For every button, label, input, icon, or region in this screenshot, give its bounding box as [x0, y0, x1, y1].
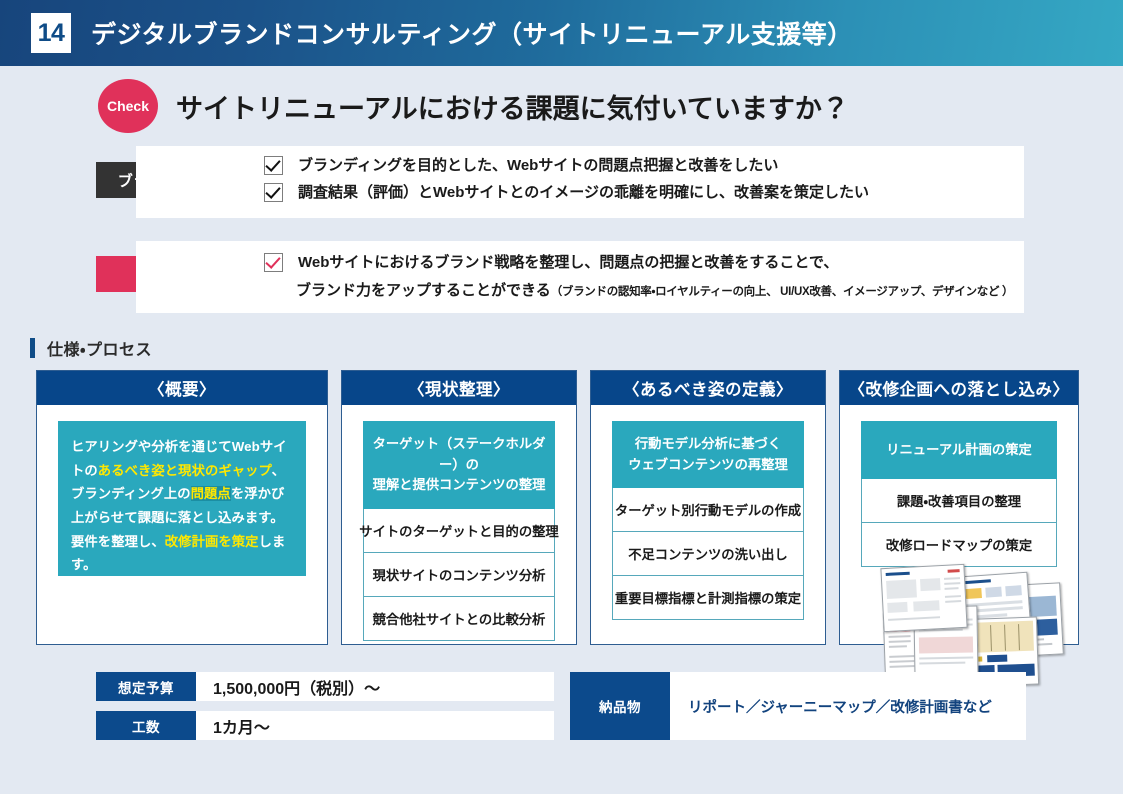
effect-text-note: （ブランドの認知率・ロイヤルティーの向上、 UI/UX改善、イメージアップ、デザ… — [551, 286, 1014, 298]
overview-seg-highlight: 改修計画を策定 — [165, 534, 259, 549]
section-label-process: 仕様・プロセス — [30, 336, 152, 360]
check-headline-row: Check サイトリニューアルにおける課題に気付いていますか？ — [0, 78, 1123, 134]
spec-value: 1,500,000円（税別）〜 — [196, 672, 554, 701]
process-column-ideal-definition: 〈あるべき姿の定義〉 行動モデル分析に基づく ウェブコンテンツの再整理 ターゲッ… — [590, 370, 826, 645]
step-cell: 課題・改善項目の整理 — [861, 479, 1057, 523]
step-header-cell: 行動モデル分析に基づく ウェブコンテンツの再整理 — [612, 421, 804, 488]
section-label-text: 仕様・プロセス — [47, 336, 152, 360]
brand-issue-text: 調査結果（評価）とWebサイトとのイメージの乖離を明確にし、改善案を策定したい — [298, 182, 869, 204]
step-header-line: 理解と提供コンテンツの整理 — [373, 475, 546, 496]
overview-paragraph: ヒアリングや分析を通じてWebサイトのあるべき姿と現状のギャップ、ブランディング… — [58, 421, 306, 576]
column-title: 〈概要〉 — [37, 371, 327, 405]
spec-value: 1カ月〜 — [196, 711, 554, 740]
process-column-overview: 〈概要〉 ヒアリングや分析を通じてWebサイトのあるべき姿と現状のギャップ、ブラ… — [36, 370, 328, 645]
step-cell: サイトのターゲットと目的の整理 — [363, 509, 555, 553]
column-body: ヒアリングや分析を通じてWebサイトのあるべき姿と現状のギャップ、ブランディング… — [37, 405, 327, 644]
process-column-renewal-plan: 〈改修企画への落とし込み〉 リニューアル計画の策定 課題・改善項目の整理 改修ロ… — [839, 370, 1079, 645]
step-cell: 現状サイトのコンテンツ分析 — [363, 553, 555, 597]
step-cell: 重要目標指標と計測指標の策定 — [612, 576, 804, 620]
column-body: リニューアル計画の策定 課題・改善項目の整理 改修ロードマップの策定 — [840, 405, 1078, 644]
step-cell: 改修ロードマップの策定 — [861, 523, 1057, 567]
spec-rows: 想定予算 1,500,000円（税別）〜 工数 1カ月〜 — [96, 672, 554, 750]
slide-title: デジタルブランドコンサルティング（サイトリニューアル支援等） — [91, 15, 853, 51]
slide-header: 14 デジタルブランドコンサルティング（サイトリニューアル支援等） — [0, 0, 1123, 66]
step-header-line: ウェブコンテンツの再整理 — [628, 455, 788, 476]
effect-line-2: ブランド力をアップすることができる（ブランドの認知率・ロイヤルティーの向上、 U… — [296, 279, 1013, 300]
step-header-line: リニューアル計画の策定 — [886, 440, 1032, 461]
step-cell: 不足コンテンツの洗い出し — [612, 532, 804, 576]
step-cell: 競合他社サイトとの比較分析 — [363, 597, 555, 641]
process-column-current-state: 〈現状整理〉 ターゲット（ステークホルダー）の 理解と提供コンテンツの整理 サイ… — [341, 370, 577, 645]
list-item: ブランディングを目的とした、Webサイトの問題点把握と改善をしたい — [264, 155, 869, 177]
column-body: 行動モデル分析に基づく ウェブコンテンツの再整理 ターゲット別行動モデルの作成 … — [591, 405, 825, 644]
column-body: ターゲット（ステークホルダー）の 理解と提供コンテンツの整理 サイトのターゲット… — [342, 405, 576, 644]
step-header-cell: ターゲット（ステークホルダー）の 理解と提供コンテンツの整理 — [363, 421, 555, 509]
step-header-cell: リニューアル計画の策定 — [861, 421, 1057, 479]
deliverables-row: 納品物 リポート／ジャーニーマップ／改修計画書など — [570, 672, 1026, 740]
checkmark-icon — [264, 253, 283, 272]
slide-number-badge: 14 — [31, 13, 71, 53]
process-columns: 〈概要〉 ヒアリングや分析を通じてWebサイトのあるべき姿と現状のギャップ、ブラ… — [36, 370, 1089, 645]
checkmark-icon — [264, 183, 283, 202]
deliverables-key: 納品物 — [570, 672, 670, 740]
column-title: 〈現状整理〉 — [342, 371, 576, 405]
column-title: 〈あるべき姿の定義〉 — [591, 371, 825, 405]
effect-panel: Webサイトにおけるブランド戦略を整理し、問題点の把握と改善をすることで、 ブラ… — [136, 241, 1024, 313]
overview-seg-highlight: あるべき姿と現状のギャップ — [98, 463, 272, 478]
effect-line-1: Webサイトにおけるブランド戦略を整理し、問題点の把握と改善をすることで、 — [264, 252, 1013, 274]
section-accent-bar — [30, 338, 35, 358]
overview-seg-highlight-box: 問題点 — [191, 486, 231, 501]
spec-row-duration: 工数 1カ月〜 — [96, 711, 554, 740]
spec-key: 工数 — [96, 711, 196, 740]
spec-row-budget: 想定予算 1,500,000円（税別）〜 — [96, 672, 554, 701]
spec-key: 想定予算 — [96, 672, 196, 701]
brand-issue-text: ブランディングを目的とした、Webサイトの問題点把握と改善をしたい — [298, 155, 778, 177]
effect-text-primary: Webサイトにおけるブランド戦略を整理し、問題点の把握と改善をすることで、 — [298, 252, 838, 274]
column-title: 〈改修企画への落とし込み〉 — [840, 371, 1078, 405]
step-header-line: 行動モデル分析に基づく — [635, 434, 781, 455]
check-question-title: サイトリニューアルにおける課題に気付いていますか？ — [176, 87, 849, 126]
step-header-line: ターゲット（ステークホルダー）の — [369, 434, 549, 475]
check-badge: Check — [98, 79, 158, 133]
effect-text-secondary: ブランド力をアップすることができる — [296, 282, 551, 299]
step-cell: ターゲット別行動モデルの作成 — [612, 488, 804, 532]
brand-issues-panel: ブランディングを目的とした、Webサイトの問題点把握と改善をしたい 調査結果（評… — [136, 146, 1024, 218]
brand-issues-list: ブランディングを目的とした、Webサイトの問題点把握と改善をしたい 調査結果（評… — [136, 146, 869, 209]
checkmark-icon — [264, 156, 283, 175]
list-item: 調査結果（評価）とWebサイトとのイメージの乖離を明確にし、改善案を策定したい — [264, 182, 869, 204]
deliverables-value: リポート／ジャーニーマップ／改修計画書など — [670, 672, 1026, 740]
